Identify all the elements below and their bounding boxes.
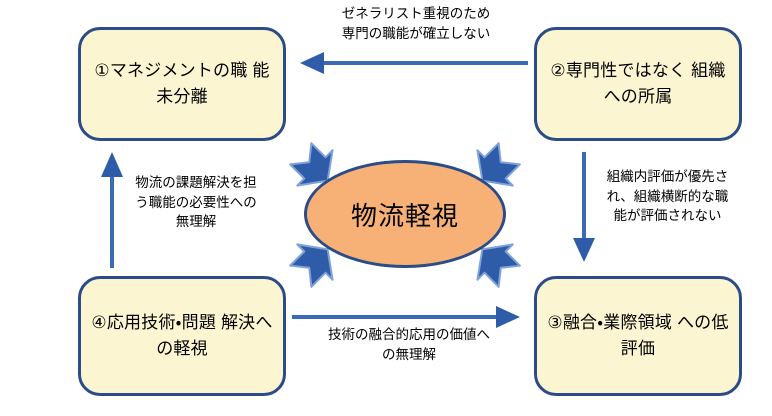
node-box-3-interdisciplinary-low-rating[interactable]: ③融合・業際領域 への低評価 bbox=[534, 276, 742, 396]
node-box-2-label: ②専門性ではなく 組織への所属 bbox=[537, 58, 739, 111]
node-box-2-organization-affiliation[interactable]: ②専門性ではなく 組織への所属 bbox=[534, 27, 742, 141]
node-box-3-label: ③融合・業際領域 への低評価 bbox=[537, 310, 739, 363]
center-ellipse-logistics-disregard[interactable]: 物流軽視 bbox=[304, 160, 506, 268]
node-box-4-applied-tech-disregard[interactable]: ④応用技術・問題 解決への軽視 bbox=[78, 276, 286, 396]
node-box-1-management-function[interactable]: ①マネジメントの職 能未分離 bbox=[78, 27, 286, 141]
edge-label-top: ゼネラリスト重視のため 専門の職能が確立しない bbox=[300, 4, 532, 43]
edge-label-right: 組織内評価が優先さ れ、組織横断的な職 能が評価されない bbox=[590, 167, 745, 226]
node-box-1-label: ①マネジメントの職 能未分離 bbox=[81, 58, 283, 111]
edge-label-bottom: 技術の融合的応用の価値へ の無理解 bbox=[296, 325, 522, 364]
arrow-top-right-to-left bbox=[300, 52, 528, 74]
diagram-canvas: ①マネジメントの職 能未分離 ②専門性ではなく 組織への所属 ③融合・業際領域 … bbox=[0, 0, 772, 416]
node-box-4-label: ④応用技術・問題 解決への軽視 bbox=[81, 310, 283, 363]
edge-label-left: 物流の課題解決を担 う職能の必要性への 無理解 bbox=[118, 173, 274, 232]
center-ellipse-label: 物流軽視 bbox=[351, 196, 459, 233]
